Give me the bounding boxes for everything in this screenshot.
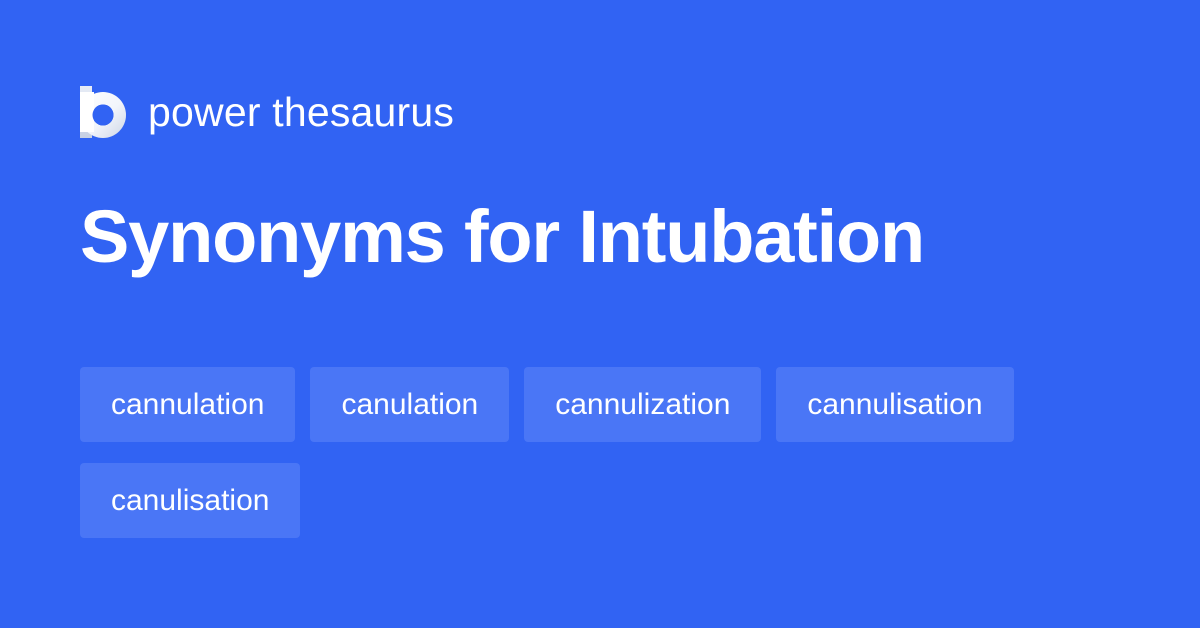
synonym-chip[interactable]: cannulisation bbox=[776, 367, 1013, 442]
page-title: Synonyms for Intubation bbox=[80, 200, 924, 274]
synonym-chip[interactable]: canulation bbox=[310, 367, 509, 442]
synonym-list: cannulation canulation cannulization can… bbox=[80, 367, 1140, 538]
synonym-chip[interactable]: cannulation bbox=[80, 367, 295, 442]
synonym-chip[interactable]: canulisation bbox=[80, 463, 300, 538]
synonym-chip[interactable]: cannulization bbox=[524, 367, 761, 442]
power-thesaurus-b-logo-icon bbox=[80, 86, 126, 138]
brand-name: power thesaurus bbox=[148, 92, 454, 133]
brand-lockup[interactable]: power thesaurus bbox=[80, 82, 454, 142]
thesaurus-share-card: power thesaurus Synonyms for Intubation … bbox=[0, 0, 1200, 628]
